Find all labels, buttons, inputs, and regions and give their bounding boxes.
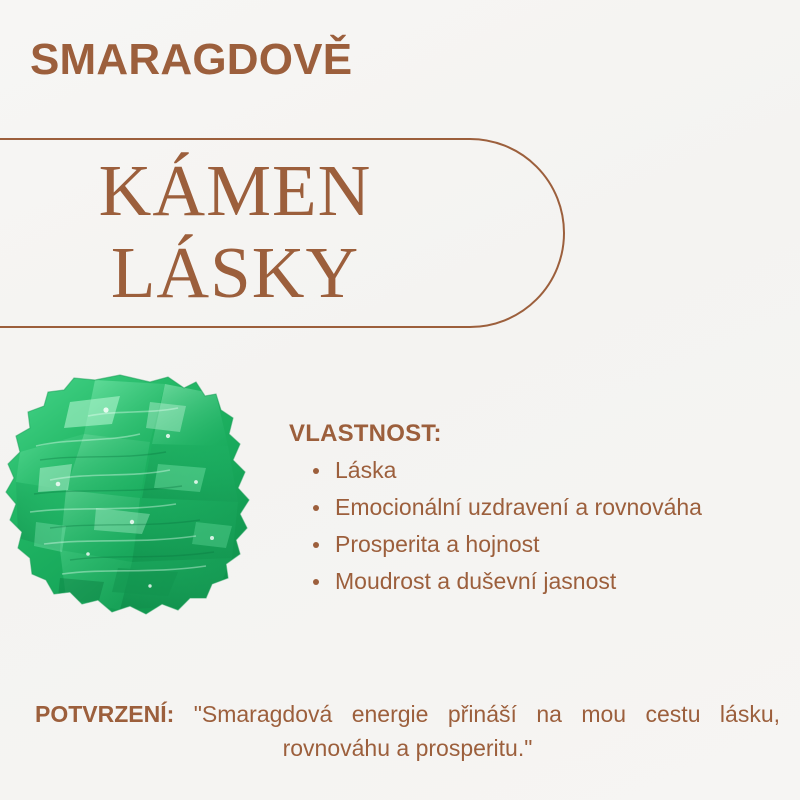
affirmation-block: POTVRZENÍ: "Smaragdová energie přináší n… (35, 697, 780, 765)
list-item: Láska (335, 452, 789, 489)
list-item: Moudrost a duševní jasnost (335, 563, 789, 600)
affirmation-label: POTVRZENÍ: (35, 701, 174, 727)
list-item: Emocionální uzdravení a rovnováha (335, 489, 789, 526)
properties-list: Láska Emocionální uzdravení a rovnováha … (289, 452, 789, 600)
properties-section: VLASTNOST: Láska Emocionální uzdravení a… (289, 420, 789, 600)
poster-canvas: SMARAGDOVĚ KÁMEN LÁSKY (0, 0, 800, 800)
page-title: SMARAGDOVĚ (30, 38, 352, 82)
list-item: Prosperita a hojnost (335, 526, 789, 563)
affirmation-quote: "Smaragdová energie přináší na mou cestu… (194, 701, 780, 761)
emerald-stone-image (0, 372, 268, 628)
pill-frame-border (0, 138, 565, 328)
properties-title: VLASTNOST: (289, 420, 789, 448)
